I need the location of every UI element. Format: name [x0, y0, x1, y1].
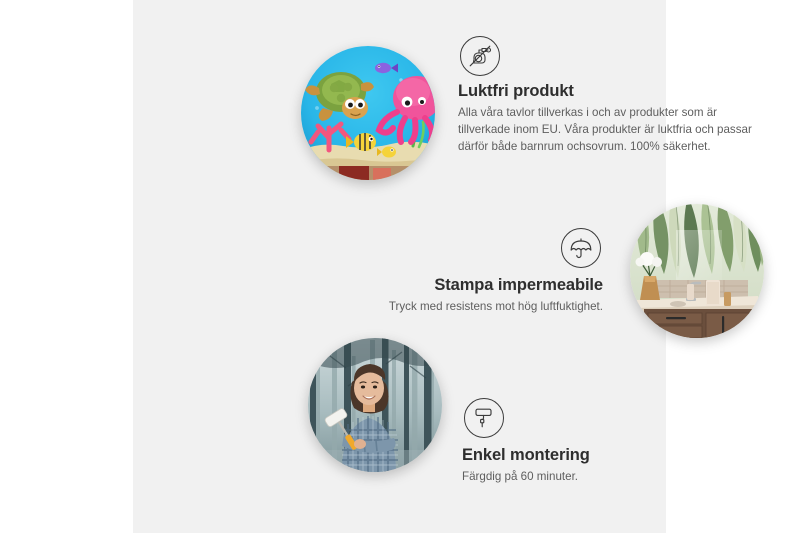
no-odour-spray-bottle-icon: [460, 36, 500, 76]
umbrella-icon: [561, 228, 601, 268]
underwater-scene-photo: [301, 46, 435, 180]
paint-roller-icon: [464, 398, 504, 438]
feature-title: Luktfri produkt: [458, 82, 758, 102]
feature-body: Färgdig på 60 minuter.: [462, 469, 752, 486]
painter-in-forest-photo: [308, 338, 442, 472]
infographic-page: Luktfri produkt Alla våra tavlor tillver…: [0, 0, 800, 533]
feature-block-waterproof: Stampa impermeabile Tryck med resistens …: [328, 228, 603, 316]
feature-block-odourless: Luktfri produkt Alla våra tavlor tillver…: [458, 36, 758, 156]
bathroom-wallpaper-photo: [630, 204, 764, 338]
feature-title: Stampa impermeabile: [328, 276, 603, 296]
feature-body: Tryck med resistens mot hög luftfuktighe…: [328, 299, 603, 316]
feature-title: Enkel montering: [462, 446, 752, 466]
infographic-panel: Luktfri produkt Alla våra tavlor tillver…: [133, 0, 666, 533]
feature-body: Alla våra tavlor tillverkas i och av pro…: [458, 105, 758, 156]
feature-block-easy-assembly: Enkel montering Färgdig på 60 minuter.: [462, 398, 752, 486]
